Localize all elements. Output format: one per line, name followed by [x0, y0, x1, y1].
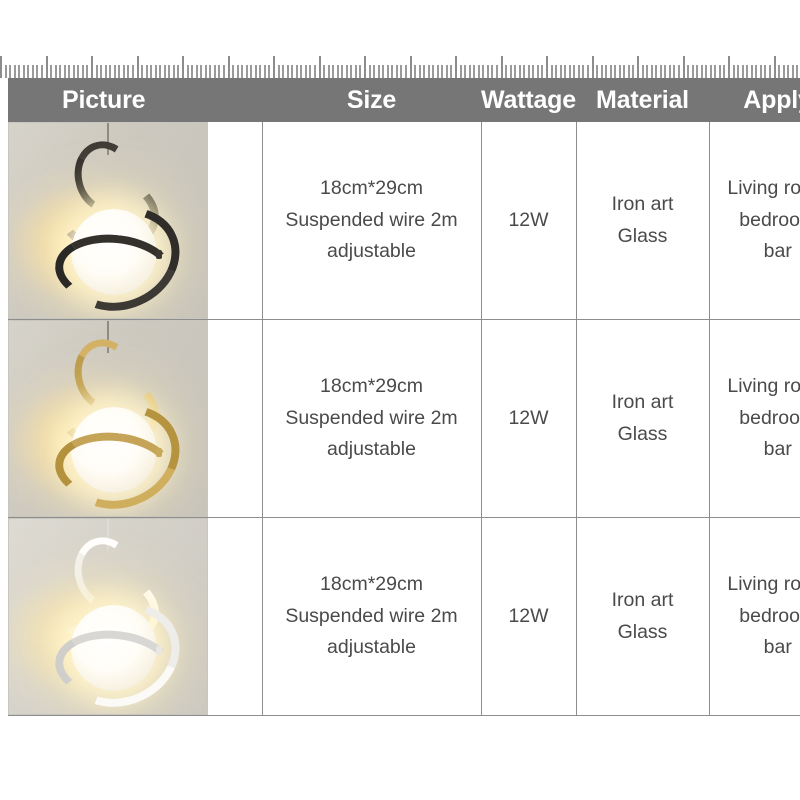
ruler-tick-minor: [55, 65, 57, 78]
ruler-tick-minor: [82, 65, 84, 78]
ruler-tick-minor: [114, 65, 116, 78]
ruler-tick-minor: [341, 65, 343, 78]
apply-line-2: bedroom: [716, 601, 800, 633]
ruler-tick-minor: [537, 65, 539, 78]
ruler-tick-minor: [68, 65, 70, 78]
ruler-tick-minor: [86, 65, 88, 78]
ruler-tick-minor: [569, 65, 571, 78]
ruler-tick-minor: [646, 65, 648, 78]
ruler-tick-minor: [109, 65, 111, 78]
ruler-tick-minor: [714, 65, 716, 78]
apply-line-2: bedroom: [716, 205, 800, 237]
ruler-tick-minor: [660, 65, 662, 78]
ruler-tick-minor: [705, 65, 707, 78]
ruler-tick-minor: [268, 65, 270, 78]
ruler-tick-minor: [596, 65, 598, 78]
ruler-tick-minor: [155, 65, 157, 78]
ruler-tick-minor: [464, 65, 466, 78]
ruler-tick-minor: [177, 65, 179, 78]
ruler-tick-minor: [710, 65, 712, 78]
measuring-ruler: [0, 44, 800, 78]
ruler-tick-minor: [323, 65, 325, 78]
ruler-tick-minor: [719, 65, 721, 78]
ruler-tick-minor: [614, 65, 616, 78]
ruler-tick-minor: [173, 65, 175, 78]
column-header-picture: Picture: [8, 78, 262, 122]
ruler-tick-minor: [291, 65, 293, 78]
lamp-tip: [156, 448, 162, 457]
ruler-tick-minor: [64, 65, 66, 78]
cell-size: 18cm*29cm Suspended wire 2m adjustable: [262, 122, 481, 320]
ruler-tick-minor: [32, 65, 34, 78]
cell-size: 18cm*29cm Suspended wire 2m adjustable: [262, 518, 481, 716]
ruler-tick-minor: [77, 65, 79, 78]
ruler-tick-minor: [519, 65, 521, 78]
ruler-tick-minor: [651, 65, 653, 78]
apply-line-3: bar: [716, 632, 800, 664]
table-header: Picture Size Wattage Material Apply: [8, 78, 800, 122]
ruler-tick-major: [228, 56, 230, 78]
material-line-1: Iron art: [583, 189, 703, 221]
size-line-3: adjustable: [269, 434, 475, 466]
ruler-tick-minor: [405, 65, 407, 78]
ruler-tick-minor: [164, 65, 166, 78]
ruler-tick-minor: [414, 65, 416, 78]
ruler-tick-major: [728, 56, 730, 78]
ruler-tick-minor: [587, 65, 589, 78]
ruler-tick-minor: [491, 65, 493, 78]
table-row: 18cm*29cm Suspended wire 2m adjustable 1…: [8, 122, 800, 320]
ruler-tick-minor: [337, 65, 339, 78]
ruler-tick-major: [455, 56, 457, 78]
ruler-tick-minor: [551, 65, 553, 78]
ruler-tick-minor: [123, 65, 125, 78]
ruler-tick-minor: [200, 65, 202, 78]
ruler-tick-minor: [628, 65, 630, 78]
size-line-1: 18cm*29cm: [269, 569, 475, 601]
ruler-tick-minor: [696, 65, 698, 78]
ruler-tick-minor: [400, 65, 402, 78]
ruler-tick-minor: [278, 65, 280, 78]
ruler-tick-minor: [655, 65, 657, 78]
apply-line-2: bedroom: [716, 403, 800, 435]
ruler-tick-minor: [523, 65, 525, 78]
ruler-tick-minor: [373, 65, 375, 78]
ruler-tick-minor: [146, 65, 148, 78]
ruler-tick-minor: [314, 65, 316, 78]
ruler-tick-minor: [282, 65, 284, 78]
size-line-1: 18cm*29cm: [269, 173, 475, 205]
ruler-tick-minor: [687, 65, 689, 78]
column-header-apply: Apply: [709, 78, 800, 122]
ruler-tick-minor: [196, 65, 198, 78]
product-photo-gold: [8, 320, 208, 517]
ruler-tick-minor: [382, 65, 384, 78]
ruler-tick-minor: [218, 65, 220, 78]
ruler-tick-major: [0, 56, 2, 78]
ruler-tick-minor: [419, 65, 421, 78]
ruler-tick-minor: [250, 65, 252, 78]
ruler-tick-minor: [746, 65, 748, 78]
ruler-tick-minor: [346, 65, 348, 78]
material-line-2: Glass: [583, 419, 703, 451]
ruler-tick-minor: [514, 65, 516, 78]
ruler-tick-major: [410, 56, 412, 78]
ruler-tick-minor: [432, 65, 434, 78]
ruler-tick-minor: [27, 65, 29, 78]
ruler-tick-minor: [328, 65, 330, 78]
ruler-tick-minor: [59, 65, 61, 78]
material-line-2: Glass: [583, 221, 703, 253]
ruler-tick-minor: [582, 65, 584, 78]
ruler-tick-major: [546, 56, 548, 78]
ruler-tick-minor: [387, 65, 389, 78]
ruler-tick-minor: [369, 65, 371, 78]
ruler-tick-minor: [664, 65, 666, 78]
ruler-tick-minor: [783, 65, 785, 78]
ruler-tick-minor: [14, 65, 16, 78]
ruler-tick-minor: [673, 65, 675, 78]
ruler-tick-major: [501, 56, 503, 78]
cell-picture: [8, 122, 262, 320]
ruler-tick-minor: [764, 65, 766, 78]
column-header-material: Material: [576, 78, 709, 122]
column-header-size: Size: [262, 78, 481, 122]
ruler-tick-minor: [355, 65, 357, 78]
ruler-tick-minor: [428, 65, 430, 78]
ruler-tick-minor: [623, 65, 625, 78]
cell-picture: [8, 320, 262, 518]
cell-apply: Living room bedroom bar: [709, 320, 800, 518]
ruler-tick-minor: [678, 65, 680, 78]
ruler-tick-major: [91, 56, 93, 78]
ruler-tick-major: [273, 56, 275, 78]
ruler-tick-major: [137, 56, 139, 78]
ruler-tick-minor: [264, 65, 266, 78]
ruler-tick-minor: [769, 65, 771, 78]
ruler-tick-minor: [9, 65, 11, 78]
ruler-tick-minor: [751, 65, 753, 78]
specification-table: Picture Size Wattage Material Apply: [8, 78, 800, 716]
ruler-tick-minor: [482, 65, 484, 78]
ruler-tick-minor: [209, 65, 211, 78]
ruler-tick-minor: [610, 65, 612, 78]
ruler-tick-minor: [391, 65, 393, 78]
size-line-3: adjustable: [269, 236, 475, 268]
size-line-3: adjustable: [269, 632, 475, 664]
apply-line-3: bar: [716, 434, 800, 466]
ruler-tick-minor: [760, 65, 762, 78]
ruler-tick-minor: [450, 65, 452, 78]
ruler-tick-minor: [127, 65, 129, 78]
apply-line-1: Living room: [716, 569, 800, 601]
ruler-tick-minor: [701, 65, 703, 78]
cell-material: Iron art Glass: [576, 518, 709, 716]
cell-picture: [8, 518, 262, 716]
cell-wattage: 12W: [481, 518, 576, 716]
ruler-tick-major: [182, 56, 184, 78]
ruler-tick-minor: [692, 65, 694, 78]
ruler-tick-minor: [73, 65, 75, 78]
ruler-tick-minor: [446, 65, 448, 78]
ruler-tick-minor: [441, 65, 443, 78]
ruler-tick-minor: [496, 65, 498, 78]
table-row: 18cm*29cm Suspended wire 2m adjustable 1…: [8, 518, 800, 716]
ruler-tick-minor: [168, 65, 170, 78]
cell-wattage: 12W: [481, 122, 576, 320]
material-line-1: Iron art: [583, 387, 703, 419]
ruler-tick-minor: [396, 65, 398, 78]
table-row: 18cm*29cm Suspended wire 2m adjustable 1…: [8, 320, 800, 518]
cell-material: Iron art Glass: [576, 320, 709, 518]
ruler-tick-minor: [141, 65, 143, 78]
ruler-tick-minor: [541, 65, 543, 78]
ruler-tick-minor: [632, 65, 634, 78]
ruler-tick-minor: [96, 65, 98, 78]
ruler-tick-minor: [573, 65, 575, 78]
ruler-tick-minor: [792, 65, 794, 78]
ruler-tick-minor: [23, 65, 25, 78]
size-line-2: Suspended wire 2m: [269, 601, 475, 633]
ruler-tick-minor: [423, 65, 425, 78]
ruler-tick-minor: [187, 65, 189, 78]
ruler-tick-minor: [642, 65, 644, 78]
ruler-tick-minor: [723, 65, 725, 78]
ruler-tick-minor: [528, 65, 530, 78]
product-photo-black: [8, 122, 208, 319]
ruler-tick-minor: [601, 65, 603, 78]
ruler-tick-minor: [41, 65, 43, 78]
ruler-tick-minor: [578, 65, 580, 78]
ruler-tick-minor: [246, 65, 248, 78]
size-line-2: Suspended wire 2m: [269, 205, 475, 237]
ruler-tick-minor: [237, 65, 239, 78]
lamp-tip: [156, 250, 162, 259]
material-line-1: Iron art: [583, 585, 703, 617]
ruler-tick-minor: [742, 65, 744, 78]
ruler-tick-minor: [796, 65, 798, 78]
ruler-tick-minor: [487, 65, 489, 78]
ruler-tick-minor: [309, 65, 311, 78]
ruler-tick-minor: [437, 65, 439, 78]
ruler-tick-minor: [564, 65, 566, 78]
size-line-1: 18cm*29cm: [269, 371, 475, 403]
ruler-tick-minor: [259, 65, 261, 78]
ruler-tick-minor: [510, 65, 512, 78]
ruler-tick-major: [774, 56, 776, 78]
ruler-tick-minor: [191, 65, 193, 78]
ruler-tick-minor: [305, 65, 307, 78]
cell-wattage: 12W: [481, 320, 576, 518]
ruler-tick-minor: [478, 65, 480, 78]
ruler-tick-minor: [359, 65, 361, 78]
ruler-tick-minor: [755, 65, 757, 78]
ruler-tick-minor: [505, 65, 507, 78]
spec-sheet-page: Picture Size Wattage Material Apply: [0, 0, 800, 800]
ruler-tick-minor: [619, 65, 621, 78]
ruler-tick-minor: [214, 65, 216, 78]
ruler-tick-minor: [287, 65, 289, 78]
ruler-tick-minor: [5, 65, 7, 78]
lamp-tip: [156, 646, 162, 655]
ruler-tick-minor: [118, 65, 120, 78]
product-photo-white: [8, 518, 208, 715]
ruler-tick-minor: [378, 65, 380, 78]
ruler-tick-major: [319, 56, 321, 78]
ruler-tick-major: [592, 56, 594, 78]
table-header-row: Picture Size Wattage Material Apply: [8, 78, 800, 122]
ruler-tick-minor: [132, 65, 134, 78]
ruler-tick-minor: [605, 65, 607, 78]
apply-line-1: Living room: [716, 173, 800, 205]
ruler-tick-major: [46, 56, 48, 78]
ruler-tick-minor: [737, 65, 739, 78]
ruler-tick-minor: [532, 65, 534, 78]
ruler-tick-minor: [223, 65, 225, 78]
ruler-tick-minor: [332, 65, 334, 78]
ruler-tick-minor: [100, 65, 102, 78]
ruler-tick-minor: [241, 65, 243, 78]
ruler-tick-minor: [473, 65, 475, 78]
ruler-tick-minor: [232, 65, 234, 78]
ruler-tick-minor: [350, 65, 352, 78]
ruler-tick-major: [637, 56, 639, 78]
size-line-2: Suspended wire 2m: [269, 403, 475, 435]
apply-line-1: Living room: [716, 371, 800, 403]
cell-material: Iron art Glass: [576, 122, 709, 320]
cell-apply: Living room bedroom bar: [709, 122, 800, 320]
ruler-tick-minor: [469, 65, 471, 78]
cell-size: 18cm*29cm Suspended wire 2m adjustable: [262, 320, 481, 518]
column-header-wattage: Wattage: [481, 78, 576, 122]
ruler-tick-major: [364, 56, 366, 78]
ruler-tick-minor: [555, 65, 557, 78]
ruler-tick-minor: [255, 65, 257, 78]
material-line-2: Glass: [583, 617, 703, 649]
cell-apply: Living room bedroom bar: [709, 518, 800, 716]
ruler-tick-major: [683, 56, 685, 78]
ruler-tick-minor: [36, 65, 38, 78]
ruler-tick-minor: [18, 65, 20, 78]
table-body: 18cm*29cm Suspended wire 2m adjustable 1…: [8, 122, 800, 716]
ruler-tick-minor: [205, 65, 207, 78]
ruler-tick-minor: [105, 65, 107, 78]
ruler-tick-minor: [733, 65, 735, 78]
ruler-tick-minor: [300, 65, 302, 78]
ruler-tick-minor: [50, 65, 52, 78]
ruler-tick-minor: [787, 65, 789, 78]
ruler-tick-minor: [669, 65, 671, 78]
ruler-tick-minor: [460, 65, 462, 78]
ruler-tick-minor: [159, 65, 161, 78]
apply-line-3: bar: [716, 236, 800, 268]
ruler-tick-minor: [150, 65, 152, 78]
ruler-tick-minor: [560, 65, 562, 78]
ruler-tick-minor: [778, 65, 780, 78]
ruler-tick-minor: [296, 65, 298, 78]
